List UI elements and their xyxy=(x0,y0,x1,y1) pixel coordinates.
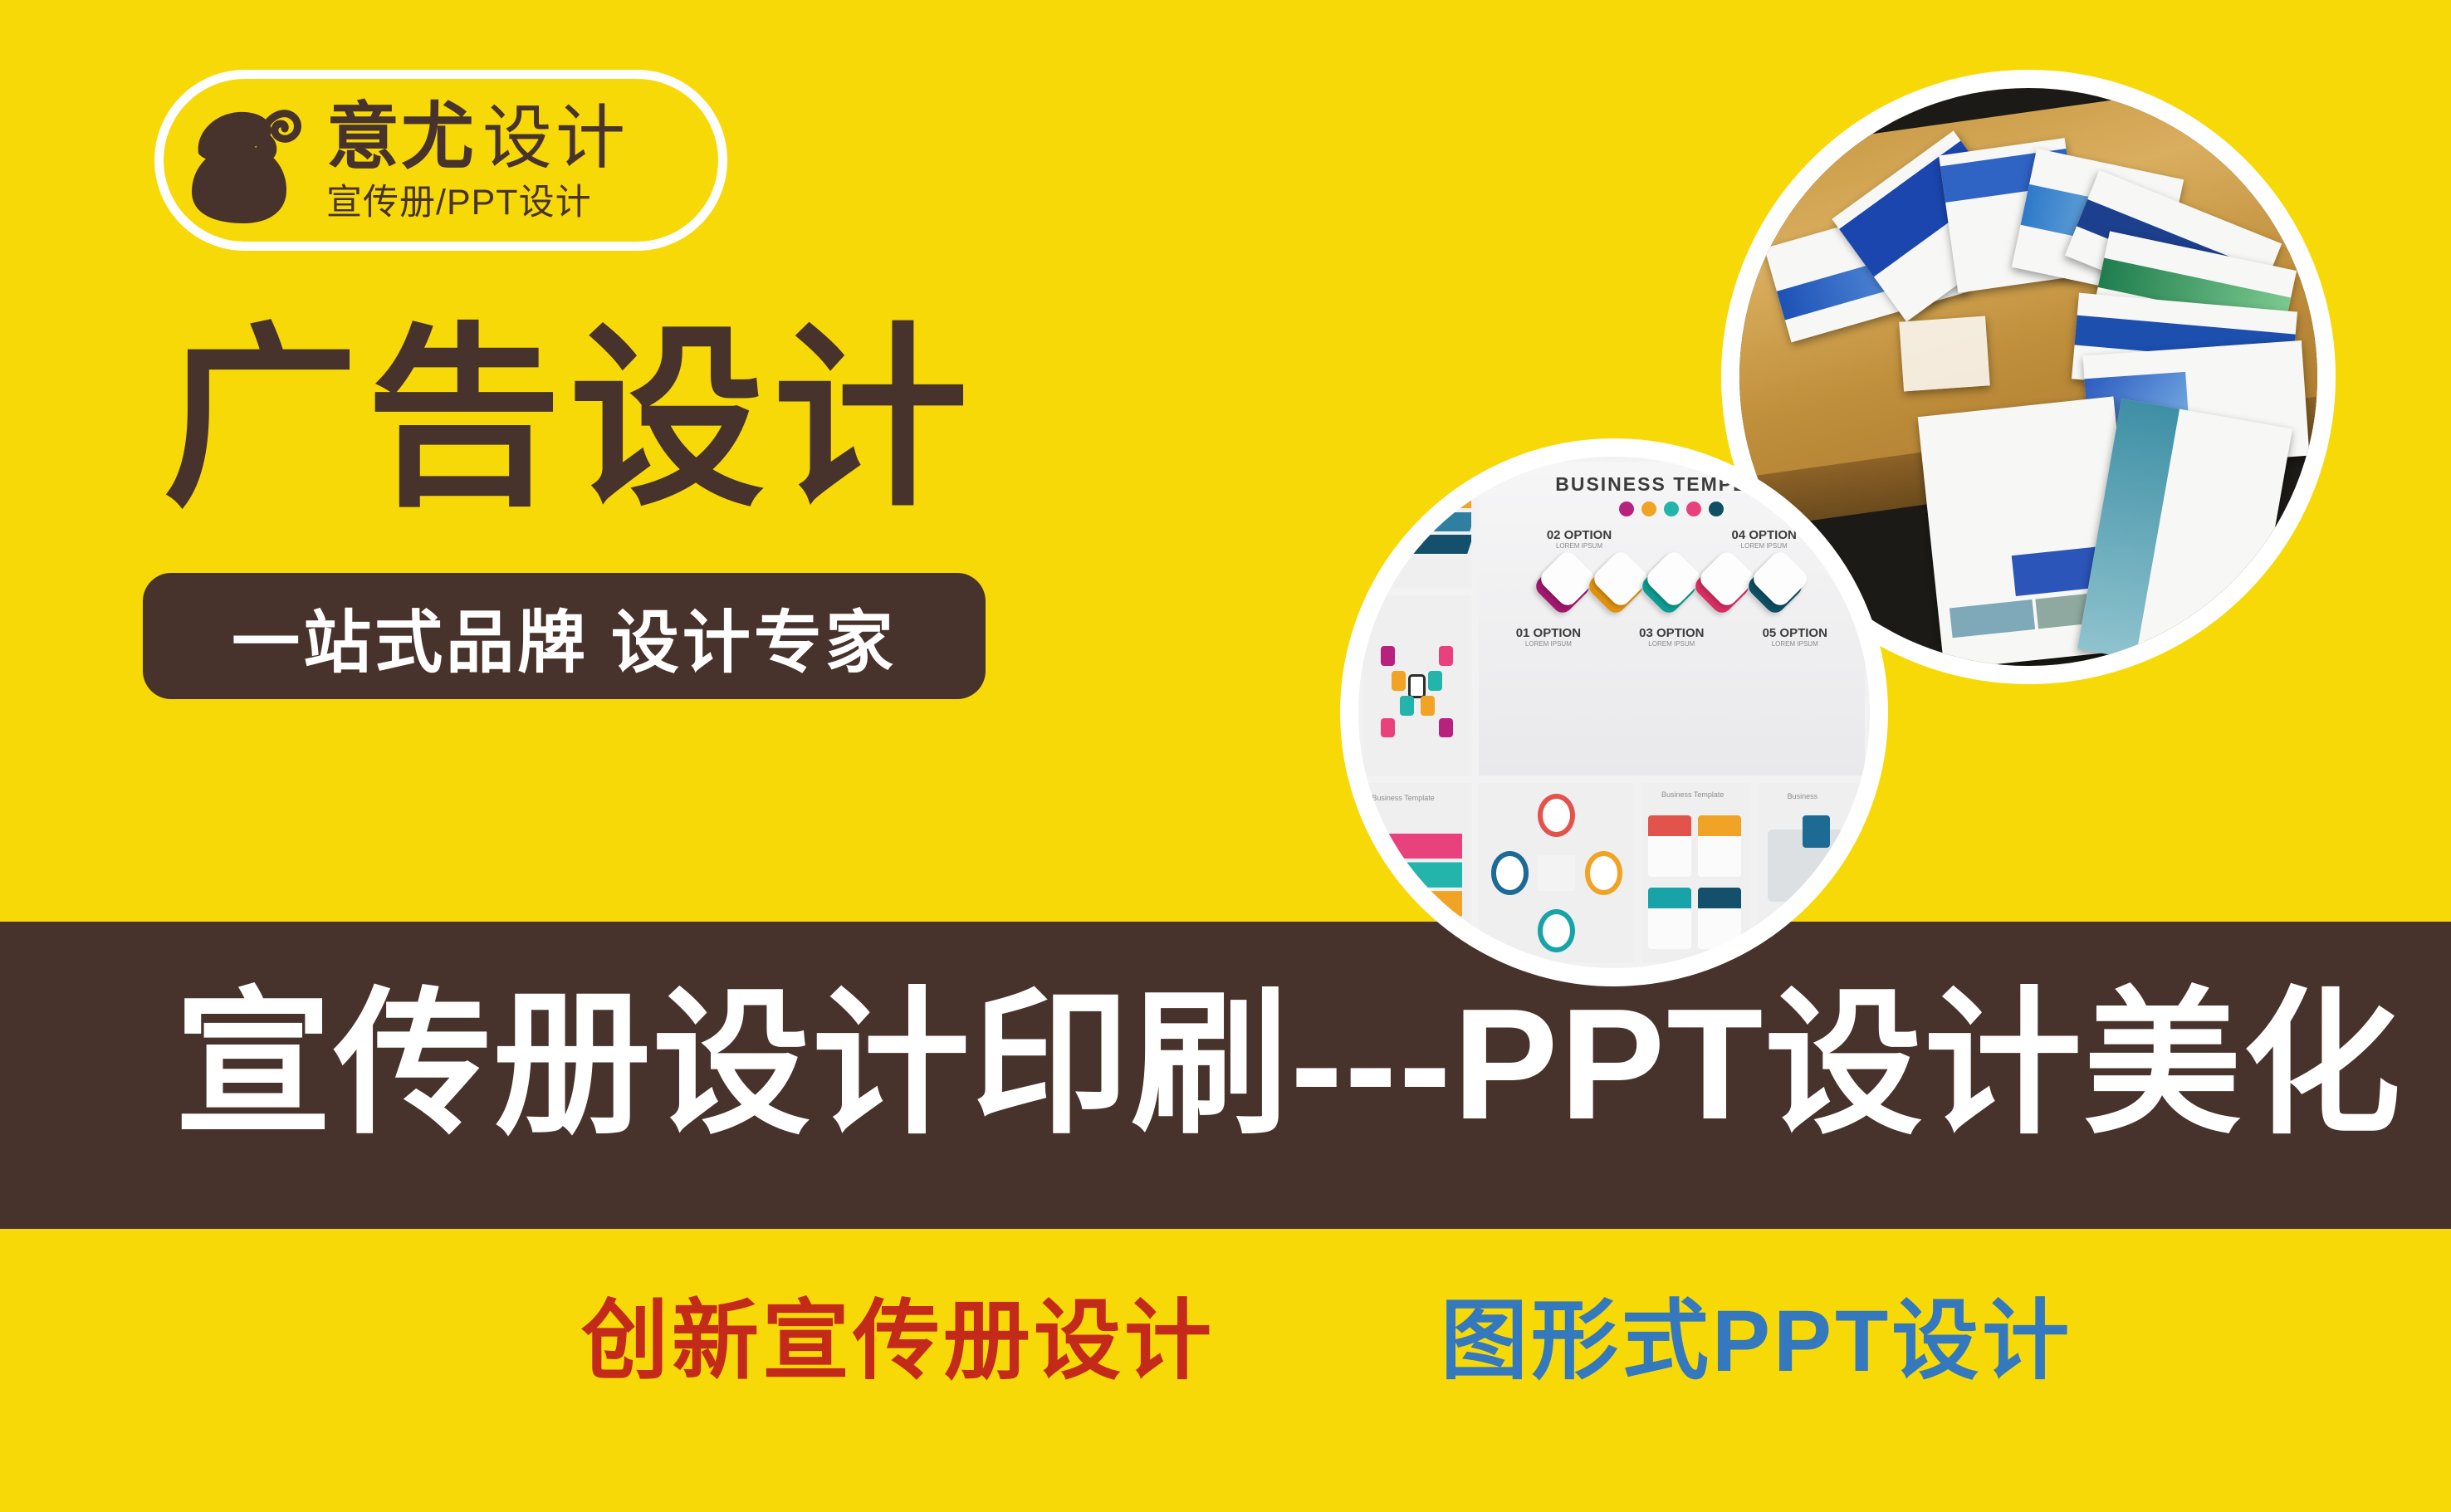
page-title: 广告设计 xyxy=(163,317,976,522)
brand-subtitle: 宣传册/PPT设计 xyxy=(326,185,629,221)
tpl-dot-row xyxy=(1487,502,1857,516)
tpl-slide-steps: Business Template xyxy=(1642,783,1750,963)
tpl-option-title: 03 OPTION xyxy=(1629,626,1714,640)
tpl-option: 05 OPTION LOREM IPSUM xyxy=(1753,626,1837,648)
footer-tagline-row: 创新宣传册设计 图形式PPT设计 xyxy=(0,1270,2451,1436)
tpl-slide-cross xyxy=(1363,595,1471,776)
tpl-option-title: 04 OPTION xyxy=(1721,528,1806,542)
tpl-option: 03 OPTION LOREM IPSUM xyxy=(1629,626,1714,648)
highlight-banner-label: 宣传册设计印刷---PPT设计美化 xyxy=(174,970,2402,1159)
status-badge: 一站式品牌 设计专家 xyxy=(143,573,986,699)
tpl-mini-title: Business Template xyxy=(1661,790,1724,799)
tpl-options-top: 02 OPTION LOREM IPSUM 04 OPTION LOREM IP… xyxy=(1487,528,1857,550)
tpl-diamond-row xyxy=(1487,565,1857,608)
brand-name-light: 设计 xyxy=(482,103,629,173)
tpl-option: 02 OPTION LOREM IPSUM xyxy=(1537,528,1622,550)
footer-tagline-brochure: 创新宣传册设计 xyxy=(581,1270,1215,1397)
tpl-slide-circles xyxy=(1479,783,1635,963)
tpl-option-title: 01 OPTION xyxy=(1506,626,1591,640)
tpl-option-sub: LOREM IPSUM xyxy=(1629,640,1714,648)
brochure-card-holder xyxy=(1899,316,1990,392)
tpl-slide-map: Business xyxy=(1757,783,1865,963)
tpl-slide-main: BUSINESS TEMPLATE 02 OPTION LOREM IPSUM … xyxy=(1479,462,1865,776)
leaf-bird-logo-icon xyxy=(185,94,310,227)
tpl-mini-title: Business Template xyxy=(1372,794,1434,802)
tpl-slide-strips xyxy=(1363,462,1471,588)
brand-name-bold: 意尤 xyxy=(326,100,476,174)
brand-name: 意尤 设计 xyxy=(326,100,629,180)
status-badge-label: 一站式品牌 设计专家 xyxy=(232,587,897,686)
tpl-option: 04 OPTION LOREM IPSUM xyxy=(1721,528,1806,550)
advertising-design-banner: 意尤 设计 宣传册/PPT设计 广告设计 一站式品牌 设计专家 xyxy=(0,0,2451,1512)
tpl-main-title: BUSINESS TEMPLATE xyxy=(1487,473,1857,496)
brand-logo-text: 意尤 设计 宣传册/PPT设计 xyxy=(326,100,629,221)
tpl-option-title: 02 OPTION xyxy=(1537,528,1622,542)
ppt-collage-inner: BUSINESS TEMPLATE 02 OPTION LOREM IPSUM … xyxy=(1358,457,1870,968)
tpl-options-bottom: 01 OPTION LOREM IPSUM 03 OPTION LOREM IP… xyxy=(1487,626,1857,648)
tpl-option-sub: LOREM IPSUM xyxy=(1506,640,1591,648)
ppt-template-collage: BUSINESS TEMPLATE 02 OPTION LOREM IPSUM … xyxy=(1340,438,1888,986)
footer-tagline-ppt: 图形式PPT设计 xyxy=(1441,1270,2072,1397)
tpl-option-sub: LOREM IPSUM xyxy=(1753,640,1837,648)
tpl-option-sub: LOREM IPSUM xyxy=(1537,542,1622,550)
tpl-option-sub: LOREM IPSUM xyxy=(1721,542,1806,550)
brand-logo-lockup: 意尤 设计 宣传册/PPT设计 xyxy=(154,70,727,251)
tpl-option: 01 OPTION LOREM IPSUM xyxy=(1506,626,1591,648)
tpl-option-title: 05 OPTION xyxy=(1753,626,1837,640)
tpl-slide-cone: Business Template xyxy=(1363,783,1471,963)
tpl-mini-title: Business xyxy=(1788,792,1818,800)
